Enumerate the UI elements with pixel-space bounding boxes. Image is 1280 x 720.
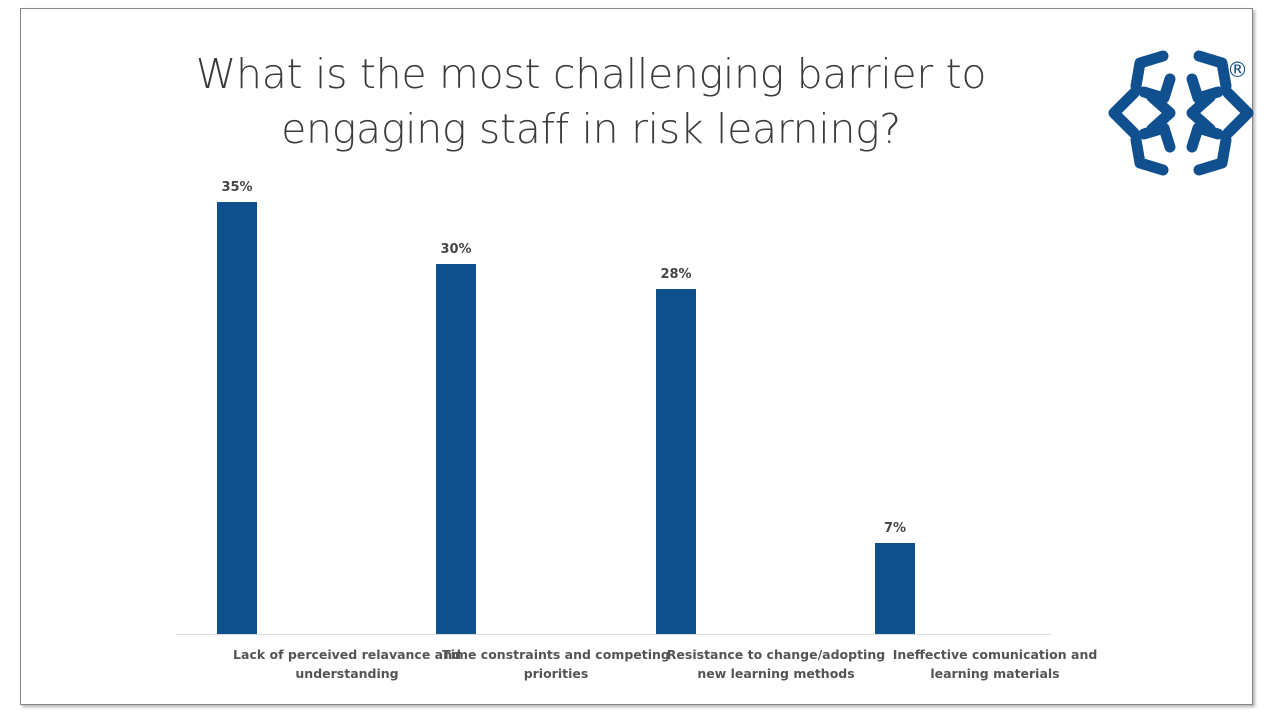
bar-1 [436,264,476,634]
bar-2 [656,289,696,634]
bar-value-label-1: 30% [426,243,486,256]
slide-frame: What is the most challenging barrier to … [20,8,1253,705]
bar-chart: 35% Lack of perceived relavance and unde… [21,9,1254,706]
category-label-3-line-1: learning materials [825,664,1165,683]
category-label-3: Ineffective comunication and learning ma… [825,645,1165,684]
bar-0 [217,202,257,634]
category-label-3-line-0: Ineffective comunication and [825,645,1165,664]
bar-value-label-0: 35% [207,181,267,194]
bar-value-label-3: 7% [865,522,925,535]
x-axis-line [176,634,1051,635]
bar-3 [875,543,915,634]
bar-value-label-2: 28% [646,268,706,281]
